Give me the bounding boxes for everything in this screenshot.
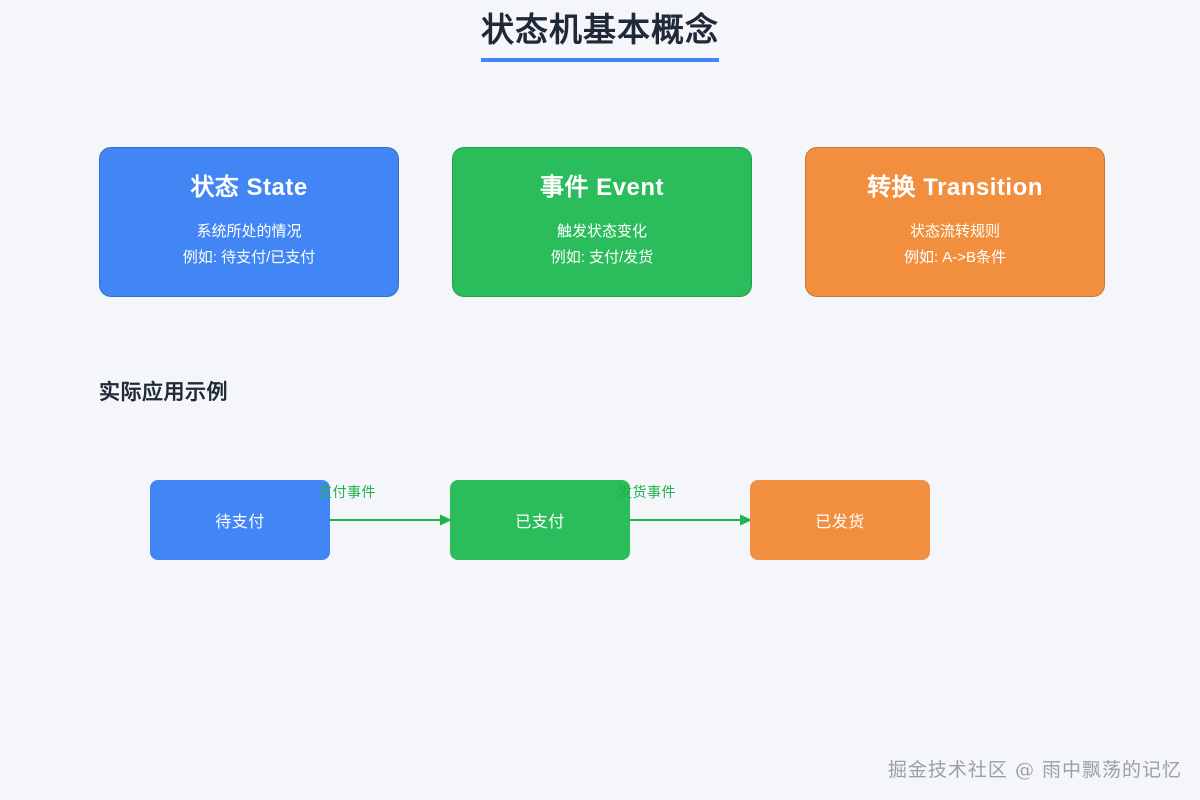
watermark: 掘金技术社区 @ 雨中飘荡的记忆 [888, 755, 1182, 782]
page-title: 状态机基本概念 [481, 8, 719, 62]
state-flow-diagram: 待支付 支付事件 已支付 发货事件 已发货 [0, 460, 1200, 580]
concept-card-desc-line-2: 例如: 支付/发货 [551, 245, 654, 271]
concept-card-event: 事件 Event 触发状态变化 例如: 支付/发货 [452, 147, 752, 297]
flow-node-pending-payment: 待支付 [150, 480, 330, 560]
concept-card-title: 状态 State [190, 173, 307, 203]
flow-node-label: 已发货 [815, 508, 865, 532]
flow-node-label: 待支付 [215, 508, 265, 532]
concept-card-state: 状态 State 系统所处的情况 例如: 待支付/已支付 [99, 147, 399, 297]
flow-node-shipped: 已发货 [750, 480, 930, 560]
concept-card-transition: 转换 Transition 状态流转规则 例如: A->B条件 [805, 147, 1105, 297]
flow-arrow-payment [330, 512, 452, 528]
concept-card-title: 事件 Event [540, 173, 664, 203]
page-title-container: 状态机基本概念 [0, 8, 1200, 62]
concept-card-title: 转换 Transition [867, 173, 1043, 203]
concept-card-desc-line-2: 例如: A->B条件 [904, 245, 1006, 271]
concept-card-desc-line-2: 例如: 待支付/已支付 [183, 245, 316, 271]
concept-cards-row: 状态 State 系统所处的情况 例如: 待支付/已支付 事件 Event 触发… [99, 147, 1105, 297]
flow-node-label: 已支付 [515, 508, 565, 532]
concept-card-desc-line-1: 系统所处的情况 [196, 219, 301, 245]
flow-arrow-shipping [630, 512, 752, 528]
flow-transition-label-shipping: 发货事件 [618, 482, 676, 502]
concept-card-desc-line-1: 触发状态变化 [557, 219, 647, 245]
flow-transition-label-payment: 支付事件 [318, 482, 376, 502]
section-heading-example: 实际应用示例 [99, 376, 228, 406]
flow-node-paid: 已支付 [450, 480, 630, 560]
concept-card-desc-line-1: 状态流转规则 [910, 219, 1000, 245]
